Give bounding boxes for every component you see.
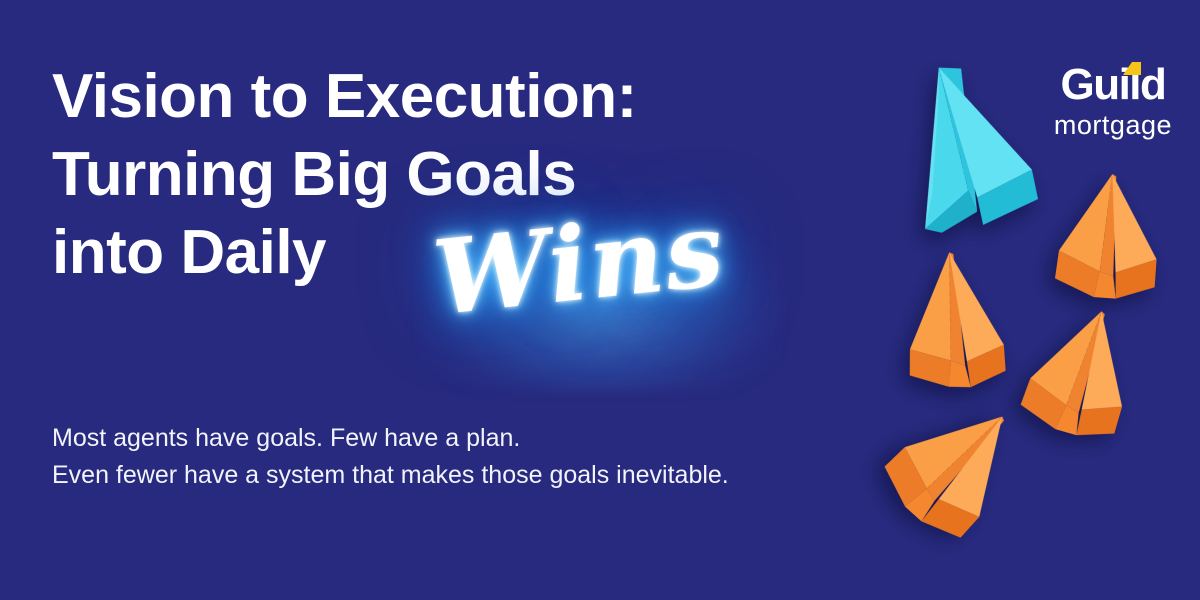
logo-wordmark: Guild <box>1054 62 1172 108</box>
headline-line-2: Turning Big Goals <box>52 136 912 214</box>
guild-mortgage-logo: Guild mortgage <box>1054 62 1172 140</box>
paper-plane-orange-upper-right-icon <box>1042 168 1177 306</box>
headline-script-word: Wins <box>429 198 729 330</box>
subheadline-line-2: Even fewer have a system that makes thos… <box>52 457 912 494</box>
event-banner: Vision to Execution: Turning Big Goals i… <box>0 0 1200 600</box>
paper-plane-orange-lower-right-icon <box>1002 291 1160 453</box>
logo-tagline: mortgage <box>1054 111 1172 140</box>
logo-roof-accent-icon <box>1123 62 1141 75</box>
subheadline-block: Most agents have goals. Few have a plan.… <box>52 420 912 494</box>
headline-line-1: Vision to Execution: <box>52 58 912 136</box>
paper-plane-cyan-icon <box>889 53 1051 239</box>
subheadline-line-1: Most agents have goals. Few have a plan. <box>52 420 912 457</box>
